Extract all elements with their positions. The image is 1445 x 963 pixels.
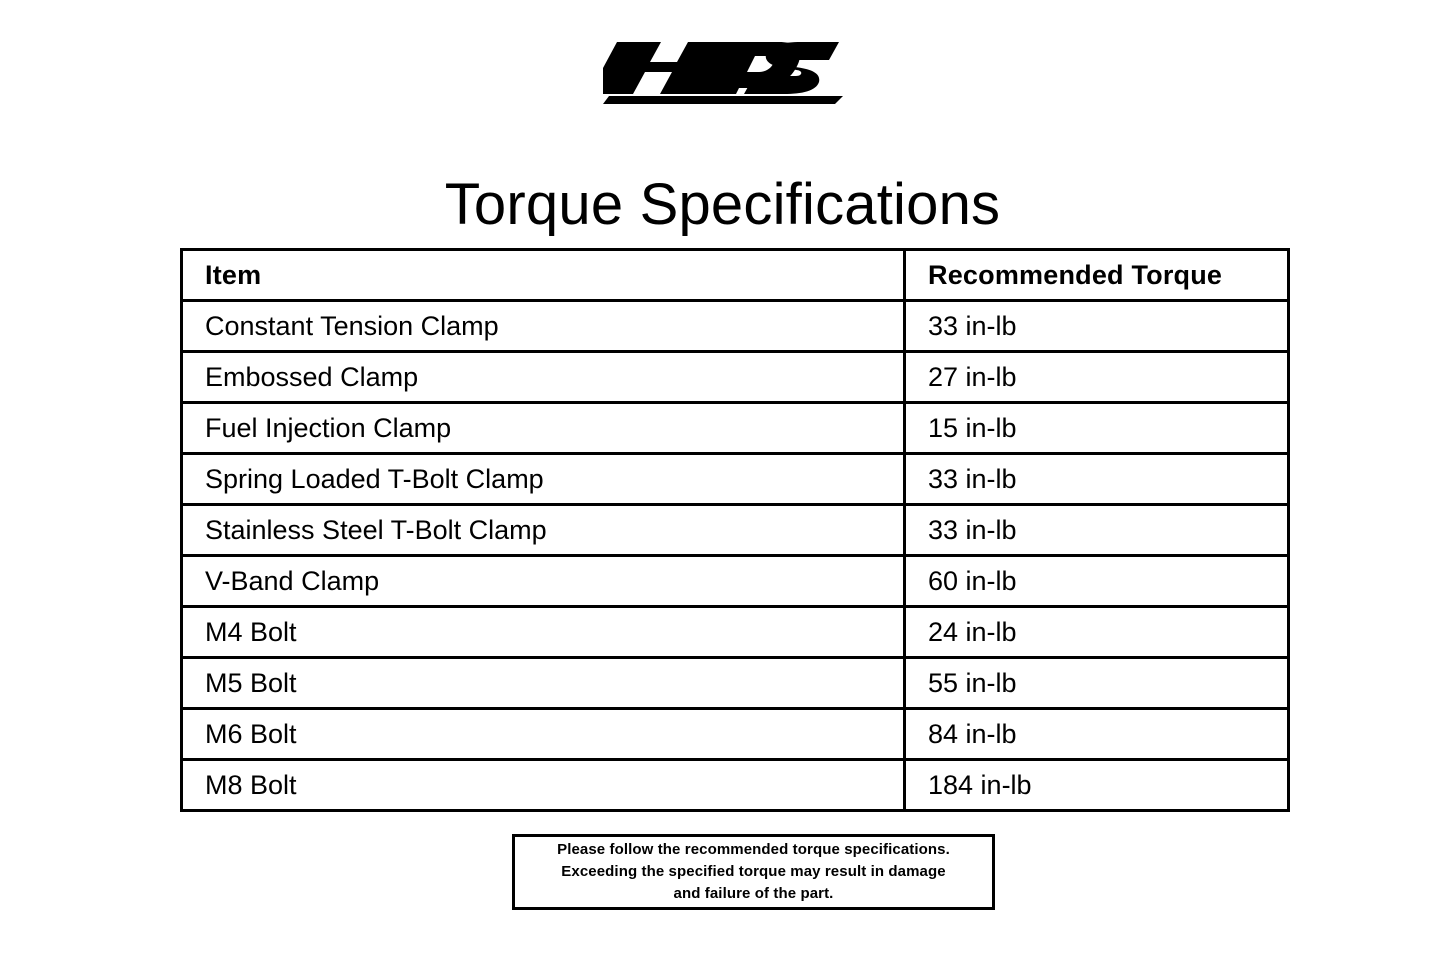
table-row: Constant Tension Clamp 33 in-lb xyxy=(182,301,1289,352)
warning-note-box: Please follow the recommended torque spe… xyxy=(512,834,995,910)
cell-item: Constant Tension Clamp xyxy=(182,301,905,352)
cell-item: M8 Bolt xyxy=(182,760,905,811)
cell-torque: 55 in-lb xyxy=(905,658,1289,709)
column-header-item: Item xyxy=(182,250,905,301)
torque-specifications-table: Item Recommended Torque Constant Tension… xyxy=(180,248,1290,812)
cell-item: Embossed Clamp xyxy=(182,352,905,403)
table-row: Embossed Clamp 27 in-lb xyxy=(182,352,1289,403)
brand-logo xyxy=(0,38,1445,110)
cell-item: M4 Bolt xyxy=(182,607,905,658)
cell-item: M5 Bolt xyxy=(182,658,905,709)
cell-item: Spring Loaded T-Bolt Clamp xyxy=(182,454,905,505)
cell-torque: 33 in-lb xyxy=(905,454,1289,505)
table-row: V-Band Clamp 60 in-lb xyxy=(182,556,1289,607)
table-row: M5 Bolt 55 in-lb xyxy=(182,658,1289,709)
cell-item: M6 Bolt xyxy=(182,709,905,760)
warning-note-line-3: and failure of the part. xyxy=(557,883,950,905)
warning-note-line-2: Exceeding the specified torque may resul… xyxy=(557,861,950,883)
table-row: M4 Bolt 24 in-lb xyxy=(182,607,1289,658)
table-row: Fuel Injection Clamp 15 in-lb xyxy=(182,403,1289,454)
cell-item: Stainless Steel T-Bolt Clamp xyxy=(182,505,905,556)
cell-torque: 184 in-lb xyxy=(905,760,1289,811)
cell-torque: 33 in-lb xyxy=(905,505,1289,556)
warning-note-line-1: Please follow the recommended torque spe… xyxy=(557,839,950,861)
cell-torque: 15 in-lb xyxy=(905,403,1289,454)
cell-torque: 24 in-lb xyxy=(905,607,1289,658)
page-title: Torque Specifications xyxy=(0,170,1445,240)
cell-item: Fuel Injection Clamp xyxy=(182,403,905,454)
cell-torque: 33 in-lb xyxy=(905,301,1289,352)
table-body: Constant Tension Clamp 33 in-lb Embossed… xyxy=(182,301,1289,811)
table-row: M8 Bolt 184 in-lb xyxy=(182,760,1289,811)
table-header-row: Item Recommended Torque xyxy=(182,250,1289,301)
cell-torque: 60 in-lb xyxy=(905,556,1289,607)
warning-note-text: Please follow the recommended torque spe… xyxy=(557,839,950,905)
cell-item: V-Band Clamp xyxy=(182,556,905,607)
table-row: Spring Loaded T-Bolt Clamp 33 in-lb xyxy=(182,454,1289,505)
hps-logo-icon xyxy=(603,38,843,104)
column-header-torque: Recommended Torque xyxy=(905,250,1289,301)
table-row: M6 Bolt 84 in-lb xyxy=(182,709,1289,760)
table-header: Item Recommended Torque xyxy=(182,250,1289,301)
cell-torque: 27 in-lb xyxy=(905,352,1289,403)
cell-torque: 84 in-lb xyxy=(905,709,1289,760)
table-row: Stainless Steel T-Bolt Clamp 33 in-lb xyxy=(182,505,1289,556)
